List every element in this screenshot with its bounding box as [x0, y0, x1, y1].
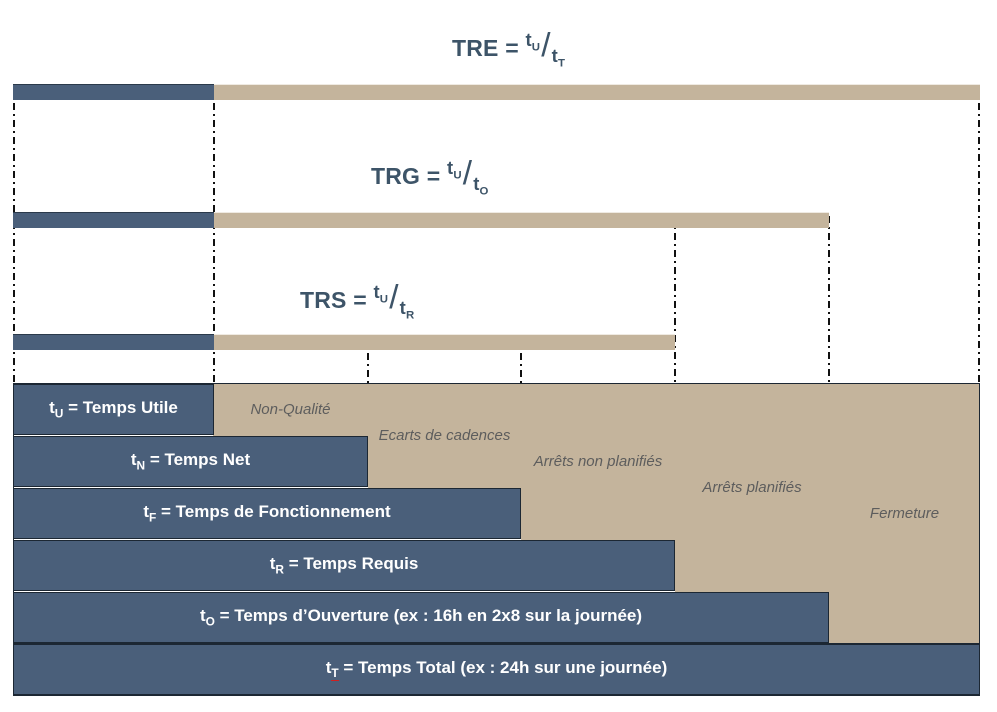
frame-right [979, 383, 980, 696]
formula-tre-equals: = [505, 35, 519, 61]
stack-row-tn: tN = Temps Net [13, 436, 368, 487]
formula-trs-denominator: tR [400, 297, 415, 318]
ratio-bar-trg-tan [214, 212, 829, 228]
bar-to-label: tO = Temps d’Ouverture (ex : 16h en 2x8 … [200, 606, 642, 629]
formula-tre-slash: / [540, 27, 551, 64]
ratio-bar-trs-tan [214, 334, 675, 350]
bar-tt: tT = Temps Total (ex : 24h sur une journ… [13, 644, 980, 695]
loss-label-non-qualite: Non-Qualité [250, 401, 330, 420]
ratio-bar-trs-blue [13, 334, 214, 350]
formula-trg-denominator: tO [473, 173, 488, 194]
formula-trg-name: TRG [371, 163, 420, 189]
ratio-bar-tre-blue [13, 84, 214, 100]
loss-block-arrets-planifies: Arrêts planifiés [675, 384, 829, 592]
ratio-bar-tre [13, 84, 980, 99]
bar-to: tO = Temps d’Ouverture (ex : 16h en 2x8 … [13, 592, 829, 643]
guide-line-tr [674, 216, 676, 386]
formula-trg: TRG = tU/tO [371, 155, 489, 197]
stack-row-tu: tU = Temps Utile [13, 384, 214, 435]
bar-tr: tR = Temps Requis [13, 540, 675, 591]
formula-trs-numerator: tU [373, 281, 388, 302]
bar-tn: tN = Temps Net [13, 436, 368, 487]
formula-trs-equals: = [353, 287, 367, 313]
frame-top [13, 383, 980, 384]
bar-tt-label: tT = Temps Total (ex : 24h sur une journ… [326, 658, 668, 681]
frame-divider-to-tt [13, 643, 980, 644]
bar-tr-label: tR = Temps Requis [270, 554, 419, 577]
frame-left [13, 383, 14, 696]
guide-line-tt [978, 86, 980, 386]
formula-trg-slash: / [462, 155, 473, 192]
formula-trg-equals: = [427, 163, 441, 189]
loss-label-ecarts-de-cadences: Ecarts de cadences [379, 427, 511, 446]
diagram-canvas: TRE = tU/tT TRG = tU/tO TRS = tU/tR Non-… [0, 0, 997, 712]
loss-block-arrets-non-planifies: Arrêts non planifiés [521, 384, 675, 540]
stack-row-tt: tT = Temps Total (ex : 24h sur une journ… [13, 644, 980, 695]
ratio-bar-tre-tan [214, 84, 980, 100]
frame-bottom [13, 695, 980, 696]
ratio-bar-trg-blue [13, 212, 214, 228]
formula-tre-numerator: tU [525, 29, 540, 50]
bar-tu-label: tU = Temps Utile [49, 398, 178, 421]
formula-trs-slash: / [388, 279, 399, 316]
formula-trs-name: TRS [300, 287, 347, 313]
stack-row-to: tO = Temps d’Ouverture (ex : 16h en 2x8 … [13, 592, 829, 643]
loss-block-non-qualite: Non-Qualité [213, 384, 368, 436]
ratio-bar-trg [13, 212, 829, 227]
loss-block-ecarts-de-cadences: Ecarts de cadences [368, 384, 521, 488]
formula-tre: TRE = tU/tT [452, 27, 565, 69]
bar-tn-label: tN = Temps Net [131, 450, 250, 473]
stack-row-tf: tF = Temps de Fonctionnement [13, 488, 521, 539]
loss-label-arrets-planifies: Arrêts planifiés [702, 479, 801, 498]
formula-trg-numerator: tU [447, 157, 462, 178]
ratio-bar-trs [13, 334, 675, 349]
formula-trs: TRS = tU/tR [300, 279, 414, 321]
bar-tu: tU = Temps Utile [13, 384, 214, 435]
stack-row-tr: tR = Temps Requis [13, 540, 675, 591]
loss-label-fermeture: Fermeture [870, 505, 939, 524]
bar-tf: tF = Temps de Fonctionnement [13, 488, 521, 539]
loss-label-arrets-non-planifies: Arrêts non planifiés [534, 453, 662, 472]
guide-line-to [828, 216, 830, 386]
bar-tf-label: tF = Temps de Fonctionnement [143, 502, 390, 525]
formula-tre-name: TRE [452, 35, 499, 61]
loss-block-fermeture: Fermeture [829, 384, 980, 644]
formula-tre-denominator: tT [552, 45, 566, 66]
